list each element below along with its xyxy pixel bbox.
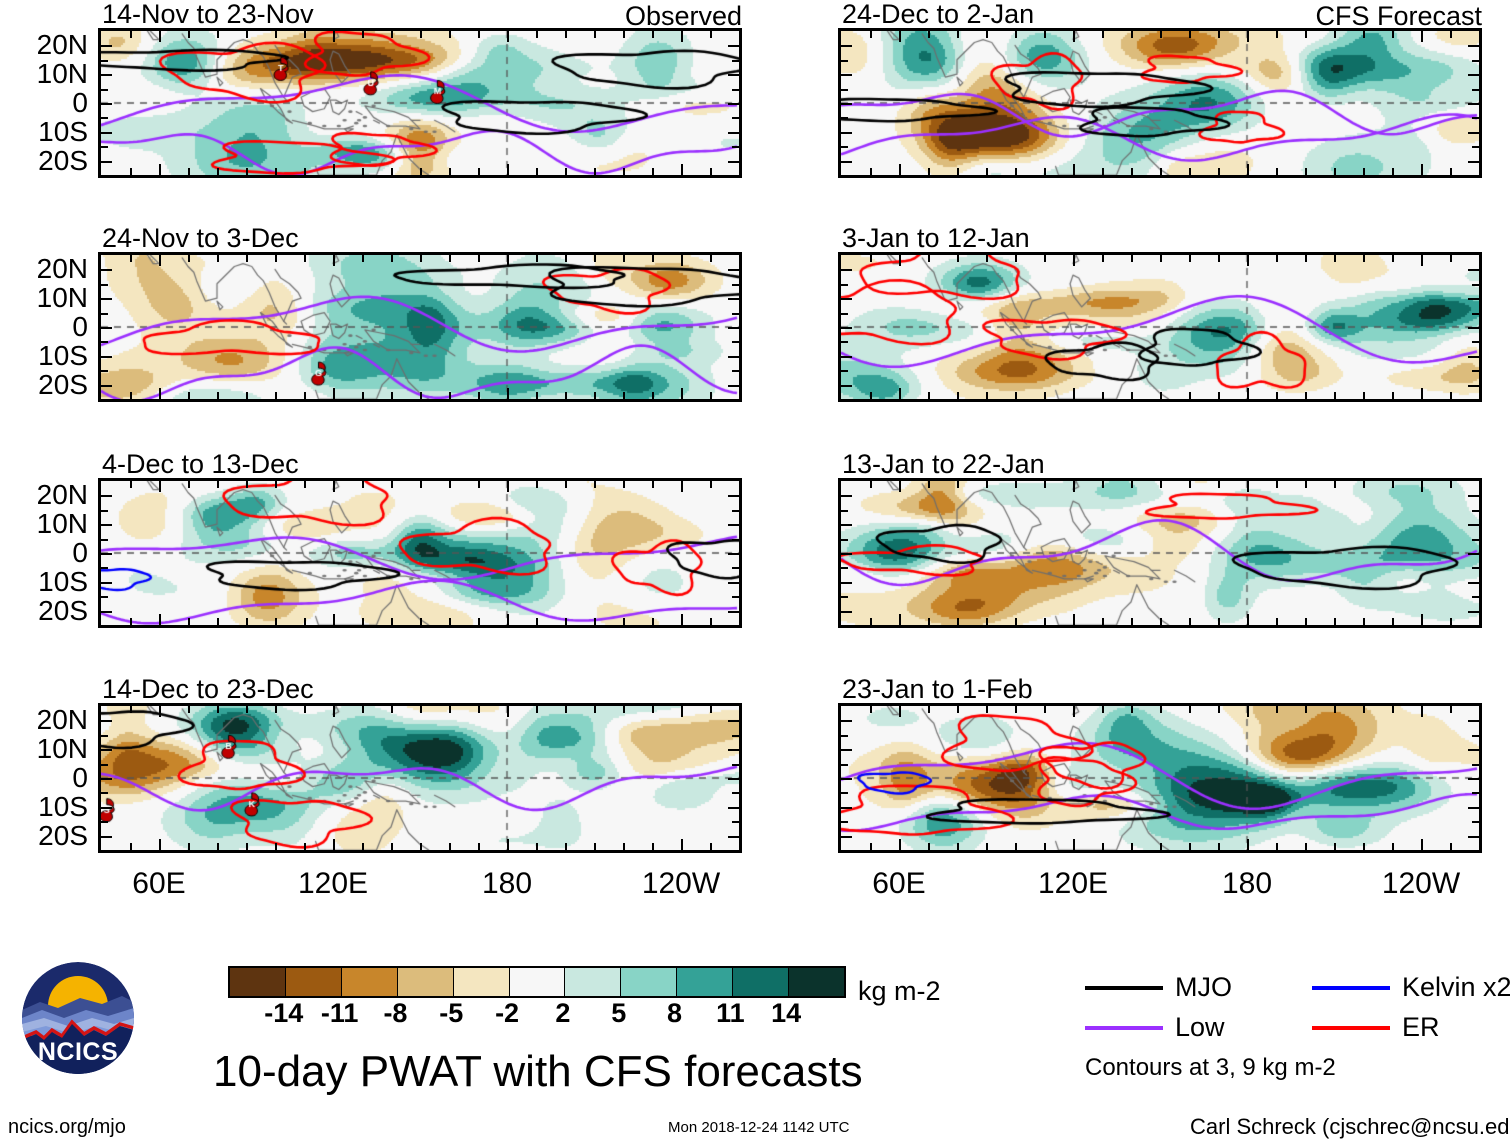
axis-tick xyxy=(101,764,108,766)
axis-tick xyxy=(732,596,739,598)
axis-tick xyxy=(188,843,190,850)
x-axis-label-120W: 120W xyxy=(1382,869,1460,899)
axis-tick xyxy=(1334,481,1336,488)
axis-tick xyxy=(732,146,739,148)
axis-tick xyxy=(841,524,852,526)
axis-tick xyxy=(101,117,108,119)
axis-tick xyxy=(536,618,538,625)
axis-tick xyxy=(1468,132,1479,134)
axis-tick xyxy=(986,31,988,38)
axis-tick xyxy=(101,327,112,329)
axis-tick xyxy=(1305,168,1307,175)
axis-tick xyxy=(1044,618,1046,625)
colorbar-swatch-2 xyxy=(341,968,397,996)
y-axis-label-20S: 20S xyxy=(0,147,88,175)
axis-tick xyxy=(732,510,739,512)
axis-tick xyxy=(217,392,219,399)
axis-tick xyxy=(870,843,872,850)
axis-tick xyxy=(594,843,596,850)
axis-tick xyxy=(841,117,848,119)
axis-tick xyxy=(1102,392,1104,399)
legend-item-kelvin: Kelvin x2 xyxy=(1312,974,1510,1001)
axis-tick xyxy=(507,164,509,175)
axis-tick xyxy=(728,749,739,751)
axis-tick xyxy=(899,706,901,717)
axis-tick xyxy=(130,31,132,38)
axis-tick xyxy=(841,269,852,271)
axis-tick xyxy=(1468,45,1479,47)
axis-tick xyxy=(728,524,739,526)
axis-tick xyxy=(728,582,739,584)
colorbar-swatch-5 xyxy=(509,968,565,996)
axis-tick xyxy=(1472,146,1479,148)
axis-tick xyxy=(710,392,712,399)
axis-tick xyxy=(1468,269,1479,271)
axis-tick xyxy=(594,481,596,488)
axis-tick xyxy=(652,31,654,38)
axis-tick xyxy=(928,706,930,713)
axis-tick xyxy=(478,706,480,713)
axis-tick xyxy=(841,284,848,286)
axis-tick xyxy=(1305,255,1307,262)
axis-tick xyxy=(304,843,306,850)
axis-tick xyxy=(841,74,852,76)
y-axis-label-10N: 10N xyxy=(0,284,88,312)
axis-tick xyxy=(1334,255,1336,262)
y-axis-label-20S: 20S xyxy=(0,597,88,625)
colorbar xyxy=(228,966,846,998)
axis-tick xyxy=(565,31,567,38)
axis-tick xyxy=(101,553,112,555)
axis-tick xyxy=(217,706,219,713)
axis-tick xyxy=(333,614,335,625)
axis-tick xyxy=(728,103,739,105)
axis-tick xyxy=(928,255,930,262)
axis-tick xyxy=(391,481,393,488)
panel-plot-fcs-1[interactable] xyxy=(838,28,1482,178)
axis-tick xyxy=(101,132,112,134)
axis-tick xyxy=(841,764,848,766)
axis-tick xyxy=(1450,168,1452,175)
axis-tick xyxy=(652,481,654,488)
axis-tick xyxy=(101,146,108,148)
axis-tick xyxy=(1218,706,1220,713)
axis-tick xyxy=(1363,618,1365,625)
axis-tick xyxy=(391,168,393,175)
axis-tick xyxy=(841,60,848,62)
axis-tick xyxy=(870,481,872,488)
axis-tick xyxy=(565,843,567,850)
axis-tick xyxy=(957,481,959,488)
panel-title-fcs-4: 23-Jan to 1-Feb xyxy=(842,676,1033,703)
y-axis-label-10S: 10S xyxy=(0,342,88,370)
y-axis-label-20S: 20S xyxy=(0,822,88,850)
colorbar-swatch-7 xyxy=(620,968,676,996)
colorbar-swatch-8 xyxy=(676,968,732,996)
axis-tick xyxy=(420,618,422,625)
axis-tick xyxy=(101,510,108,512)
axis-tick xyxy=(739,481,741,488)
colorbar-tick-5: 5 xyxy=(611,1000,626,1027)
column-header-forecast: CFS Forecast xyxy=(1160,3,1482,30)
axis-tick xyxy=(159,164,161,175)
axis-tick xyxy=(1160,706,1162,713)
axis-tick xyxy=(986,706,988,713)
axis-tick xyxy=(565,618,567,625)
axis-tick xyxy=(1421,614,1423,625)
axis-tick xyxy=(246,843,248,850)
axis-tick xyxy=(870,255,872,262)
axis-tick xyxy=(217,618,219,625)
axis-tick xyxy=(841,720,852,722)
axis-tick xyxy=(101,370,108,372)
axis-tick xyxy=(1468,385,1479,387)
axis-tick xyxy=(841,735,848,737)
axis-tick xyxy=(1160,481,1162,488)
axis-tick xyxy=(275,843,277,850)
axis-tick xyxy=(728,495,739,497)
colorbar-swatch-0 xyxy=(230,968,285,996)
axis-tick xyxy=(188,618,190,625)
panel-title-fcs-1: 24-Dec to 2-Jan xyxy=(842,1,1034,28)
axis-tick xyxy=(1276,843,1278,850)
axis-tick xyxy=(507,839,509,850)
x-axis-label-120E: 120E xyxy=(1038,869,1108,899)
axis-tick xyxy=(1392,843,1394,850)
axis-tick xyxy=(1392,168,1394,175)
axis-tick xyxy=(362,618,364,625)
panel-shading-fcs-4 xyxy=(841,706,1479,850)
axis-tick xyxy=(841,539,848,541)
axis-tick xyxy=(1189,618,1191,625)
panel-plot-fcs-4[interactable] xyxy=(838,703,1482,853)
axis-tick xyxy=(841,778,852,780)
axis-tick xyxy=(1276,31,1278,38)
axis-tick xyxy=(1334,31,1336,38)
footer-site[interactable]: ncics.org/mjo xyxy=(8,1117,126,1137)
axis-tick xyxy=(739,168,741,175)
axis-tick xyxy=(101,161,112,163)
axis-tick xyxy=(870,31,872,38)
panel-title-obs-3: 4-Dec to 13-Dec xyxy=(102,451,299,478)
axis-tick xyxy=(870,618,872,625)
axis-tick xyxy=(304,255,306,262)
colorbar-tick--2: -2 xyxy=(495,1000,519,1027)
legend-swatch-mjo xyxy=(1085,986,1163,990)
colorbar-tick--11: -11 xyxy=(321,1000,359,1027)
panel-plot-obs-3[interactable] xyxy=(98,478,742,628)
colorbar-unit-label: kg m-2 xyxy=(858,978,941,1005)
axis-tick xyxy=(1276,168,1278,175)
axis-tick xyxy=(1479,168,1481,175)
axis-tick xyxy=(1421,31,1423,42)
axis-tick xyxy=(1472,510,1479,512)
axis-tick xyxy=(1363,481,1365,488)
axis-tick xyxy=(449,392,451,399)
axis-tick xyxy=(333,164,335,175)
legend-item-low: Low xyxy=(1085,1014,1225,1041)
axis-tick xyxy=(1468,778,1479,780)
axis-tick xyxy=(1468,836,1479,838)
axis-tick xyxy=(732,821,739,823)
axis-tick xyxy=(1472,89,1479,91)
axis-tick xyxy=(870,168,872,175)
axis-tick xyxy=(1247,164,1249,175)
axis-tick xyxy=(732,567,739,569)
axis-tick xyxy=(565,168,567,175)
axis-tick xyxy=(159,614,161,625)
axis-tick xyxy=(1363,168,1365,175)
axis-tick xyxy=(841,313,848,315)
footer-timestamp: Mon 2018-12-24 1142 UTC xyxy=(668,1120,850,1135)
axis-tick xyxy=(159,706,161,717)
colorbar-swatch-6 xyxy=(564,968,620,996)
axis-tick xyxy=(101,807,112,809)
axis-tick xyxy=(1247,255,1249,266)
axis-tick xyxy=(732,539,739,541)
axis-tick xyxy=(1472,117,1479,119)
y-axis-label-10N: 10N xyxy=(0,735,88,763)
axis-tick xyxy=(1189,255,1191,262)
axis-tick xyxy=(841,161,852,163)
axis-tick xyxy=(1276,481,1278,488)
axis-tick xyxy=(536,168,538,175)
axis-tick xyxy=(899,164,901,175)
axis-tick xyxy=(333,706,335,717)
axis-tick xyxy=(101,524,112,526)
axis-tick xyxy=(1102,843,1104,850)
axis-tick xyxy=(841,582,852,584)
axis-tick xyxy=(1015,481,1017,488)
axis-tick xyxy=(1468,611,1479,613)
axis-tick xyxy=(1468,327,1479,329)
axis-tick xyxy=(362,392,364,399)
axis-tick xyxy=(1305,843,1307,850)
axis-tick xyxy=(1073,706,1075,717)
axis-tick xyxy=(841,553,852,555)
axis-tick xyxy=(1334,843,1336,850)
axis-tick xyxy=(728,611,739,613)
axis-tick xyxy=(101,313,108,315)
panel-plot-obs-2[interactable] xyxy=(98,252,742,402)
y-axis-label-10S: 10S xyxy=(0,568,88,596)
axis-tick xyxy=(1189,481,1191,488)
axis-tick xyxy=(304,31,306,38)
panel-plot-fcs-2[interactable] xyxy=(838,252,1482,402)
axis-tick xyxy=(1468,356,1479,358)
colorbar-tick-14: 14 xyxy=(771,1000,801,1027)
axis-tick xyxy=(1160,168,1162,175)
axis-tick xyxy=(217,481,219,488)
axis-tick xyxy=(652,843,654,850)
axis-tick xyxy=(728,298,739,300)
axis-tick xyxy=(1015,168,1017,175)
axis-tick xyxy=(188,168,190,175)
axis-tick xyxy=(1044,168,1046,175)
colorbar-swatch-1 xyxy=(285,968,341,996)
colorbar-tick-2: 2 xyxy=(555,1000,570,1027)
axis-tick xyxy=(710,481,712,488)
axis-tick xyxy=(623,392,625,399)
axis-tick xyxy=(1276,392,1278,399)
axis-tick xyxy=(101,284,108,286)
axis-tick xyxy=(217,843,219,850)
axis-tick xyxy=(1189,168,1191,175)
axis-tick xyxy=(246,255,248,262)
axis-tick xyxy=(333,31,335,42)
axis-tick xyxy=(478,31,480,38)
panel-plot-obs-1[interactable] xyxy=(98,28,742,178)
axis-tick xyxy=(986,392,988,399)
panel-plot-obs-4[interactable] xyxy=(98,703,742,853)
panel-shading-fcs-1 xyxy=(841,31,1479,175)
axis-tick xyxy=(1392,706,1394,713)
axis-tick xyxy=(652,618,654,625)
colorbar-swatch-4 xyxy=(453,968,509,996)
axis-tick xyxy=(1305,31,1307,38)
axis-tick xyxy=(841,45,852,47)
axis-tick xyxy=(449,255,451,262)
axis-tick xyxy=(1044,255,1046,262)
axis-tick xyxy=(1468,161,1479,163)
axis-tick xyxy=(1421,706,1423,717)
axis-tick xyxy=(1073,614,1075,625)
legend-swatch-er xyxy=(1312,1026,1390,1030)
axis-tick xyxy=(159,388,161,399)
axis-tick xyxy=(681,388,683,399)
axis-tick xyxy=(478,168,480,175)
axis-tick xyxy=(728,553,739,555)
colorbar-tick-11: 11 xyxy=(716,1000,745,1027)
axis-tick xyxy=(1276,706,1278,713)
axis-tick xyxy=(728,778,739,780)
axis-tick xyxy=(1218,392,1220,399)
axis-tick xyxy=(1131,706,1133,713)
axis-tick xyxy=(449,618,451,625)
axis-tick xyxy=(1218,168,1220,175)
axis-tick xyxy=(1015,618,1017,625)
axis-tick xyxy=(594,255,596,262)
axis-tick xyxy=(1073,388,1075,399)
axis-tick xyxy=(188,481,190,488)
axis-tick xyxy=(101,836,112,838)
y-axis-label-10S: 10S xyxy=(0,118,88,146)
axis-tick xyxy=(1450,843,1452,850)
axis-tick xyxy=(986,255,988,262)
axis-tick xyxy=(594,31,596,38)
axis-tick xyxy=(536,31,538,38)
axis-tick xyxy=(1450,255,1452,262)
axis-tick xyxy=(986,843,988,850)
axis-tick xyxy=(304,481,306,488)
axis-tick xyxy=(594,618,596,625)
axis-tick xyxy=(1334,618,1336,625)
y-axis-label-10S: 10S xyxy=(0,793,88,821)
panel-plot-fcs-3[interactable] xyxy=(838,478,1482,628)
axis-tick xyxy=(841,89,848,91)
axis-tick xyxy=(275,31,277,38)
axis-tick xyxy=(957,843,959,850)
axis-tick xyxy=(1073,481,1075,492)
axis-tick xyxy=(275,255,277,262)
axis-tick xyxy=(1479,843,1481,850)
axis-tick xyxy=(899,614,901,625)
svg-text:NCICS: NCICS xyxy=(38,1038,118,1066)
axis-tick xyxy=(1472,284,1479,286)
axis-tick xyxy=(1363,31,1365,38)
axis-tick xyxy=(304,706,306,713)
y-axis-label-0: 0 xyxy=(0,539,88,567)
axis-tick xyxy=(362,168,364,175)
axis-tick xyxy=(841,749,852,751)
axis-tick xyxy=(1102,168,1104,175)
axis-tick xyxy=(1479,31,1481,38)
axis-tick xyxy=(101,749,112,751)
panel-shading-obs-1 xyxy=(101,31,739,175)
axis-tick xyxy=(594,706,596,713)
axis-tick xyxy=(841,356,852,358)
axis-tick xyxy=(681,481,683,492)
axis-tick xyxy=(1450,706,1452,713)
panel-title-obs-4: 14-Dec to 23-Dec xyxy=(102,676,314,703)
axis-tick xyxy=(1421,839,1423,850)
axis-tick xyxy=(1334,392,1336,399)
axis-tick xyxy=(732,341,739,343)
axis-tick xyxy=(841,327,852,329)
axis-tick xyxy=(841,792,848,794)
ncics-logo: NCICS xyxy=(22,962,134,1074)
panel-title-obs-2: 24-Nov to 3-Dec xyxy=(102,225,299,252)
axis-tick xyxy=(101,735,108,737)
axis-tick xyxy=(130,706,132,713)
axis-tick xyxy=(841,103,852,105)
axis-tick xyxy=(1392,618,1394,625)
axis-tick xyxy=(870,706,872,713)
axis-tick xyxy=(565,255,567,262)
panel-shading-obs-3 xyxy=(101,481,739,625)
axis-tick xyxy=(1102,31,1104,38)
axis-tick xyxy=(246,31,248,38)
axis-tick xyxy=(739,618,741,625)
axis-tick xyxy=(507,706,509,717)
axis-tick xyxy=(246,392,248,399)
axis-tick xyxy=(101,356,112,358)
axis-tick xyxy=(623,481,625,488)
axis-tick xyxy=(1363,255,1365,262)
axis-tick xyxy=(1218,255,1220,262)
axis-tick xyxy=(957,168,959,175)
axis-tick xyxy=(246,481,248,488)
axis-tick xyxy=(449,706,451,713)
axis-tick xyxy=(899,481,901,492)
axis-tick xyxy=(732,735,739,737)
figure-caption: 10-day PWAT with CFS forecasts xyxy=(213,1049,863,1095)
axis-tick xyxy=(507,255,509,266)
axis-tick xyxy=(957,255,959,262)
axis-tick xyxy=(1218,481,1220,488)
axis-tick xyxy=(732,284,739,286)
axis-tick xyxy=(1334,168,1336,175)
x-axis-label-180: 180 xyxy=(482,869,532,899)
axis-tick xyxy=(957,706,959,713)
axis-tick xyxy=(130,481,132,488)
axis-tick xyxy=(1472,567,1479,569)
axis-tick xyxy=(1468,495,1479,497)
axis-tick xyxy=(449,843,451,850)
axis-tick xyxy=(1450,31,1452,38)
legend-item-mjo: MJO xyxy=(1085,974,1232,1001)
axis-tick xyxy=(101,611,112,613)
